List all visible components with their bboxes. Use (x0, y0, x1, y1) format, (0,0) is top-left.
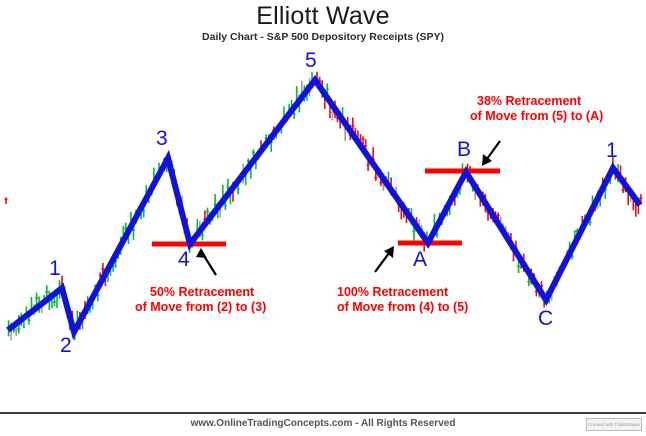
chart-subtitle: Daily Chart - S&P 500 Depository Receipt… (0, 31, 646, 43)
arrow-to-wave-4 (196, 248, 216, 275)
wave-label-1-new: 1 (606, 140, 618, 161)
annotation-38-retracement-line1: 38% Retracement (477, 94, 581, 109)
annotation-100-retracement-line1: 100% Retracement (337, 285, 448, 300)
annotation-50-retracement-line2: of Move from (2) to (3) (135, 300, 266, 315)
arrow-to-wave-b (482, 141, 500, 166)
wave-label-b: B (457, 139, 471, 160)
annotation-100-retracement-line2: of Move from (4) to (5) (337, 300, 468, 315)
wave-label-c: C (538, 308, 553, 329)
annotation-50-retracement-line1: 50% Retracement (150, 285, 254, 300)
tradestation-badge: Created with TradeStation (586, 418, 642, 431)
footer-credit: www.OnlineTradingConcepts.com - All Righ… (0, 418, 646, 429)
wave-label-3: 3 (156, 128, 168, 149)
wave-label-a: A (413, 249, 427, 270)
arrow-to-wave-a (375, 246, 394, 272)
chart-title: Elliott Wave (0, 2, 646, 31)
chart-screenshot: Elliott Wave Daily Chart - S&P 500 Depos… (0, 0, 646, 436)
annotation-38-retracement-line2: of Move from (5) to (A) (470, 109, 603, 124)
wave-label-1: 1 (49, 258, 61, 279)
footer-divider (0, 412, 646, 414)
wave-label-5: 5 (305, 50, 317, 71)
annotation-arrows (196, 141, 500, 275)
wave-label-4: 4 (178, 249, 190, 270)
wave-label-2: 2 (60, 335, 72, 356)
